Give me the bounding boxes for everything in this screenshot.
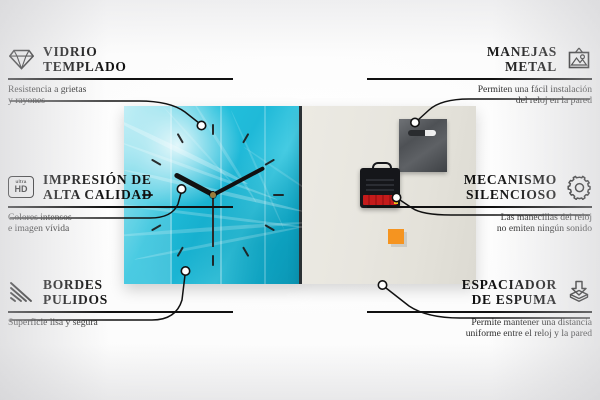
feature-rule	[367, 78, 592, 80]
feature-desc-line2: y rayones	[8, 95, 233, 107]
infographic-canvas: VIDRIO TEMPLADO Resistencia a grietas y …	[0, 0, 600, 400]
feature-bordes-pulidos[interactable]: BORDES PULIDOS Superficie lisa y segura	[8, 277, 233, 328]
feature-title-line1: IMPRESIÓN DE	[43, 172, 152, 187]
feature-title-line2: TEMPLADO	[43, 59, 127, 74]
feature-rule	[8, 78, 233, 80]
feature-rule	[8, 206, 233, 208]
feature-desc-line2: del reloj en la pared	[367, 95, 592, 107]
feature-title-line1: MANEJAS	[487, 44, 557, 59]
feature-rule	[8, 311, 233, 313]
feature-impresion-alta-calidad[interactable]: ultra HD IMPRESIÓN DE ALTA CALIDAD Color…	[8, 172, 233, 235]
feature-title-line2: METAL	[487, 59, 557, 74]
ultra-hd-icon: ultra HD	[8, 174, 34, 200]
feature-desc-line1: Superficie lisa y segura	[8, 317, 233, 329]
feature-desc-line1: Permite mantener una distancia	[367, 317, 592, 329]
polished-edges-icon	[8, 279, 34, 305]
feature-title-line1: ESPACIADOR	[462, 277, 557, 292]
picture-frame-hanger-icon	[566, 46, 592, 72]
feature-title-line2: PULIDOS	[43, 292, 108, 307]
feature-title-line2: SILENCIOSO	[464, 187, 557, 202]
gear-icon	[566, 174, 592, 200]
feature-manejas-metal[interactable]: MANEJAS METAL Permiten una fácil instala…	[367, 44, 592, 107]
foam-spacer-icon	[566, 279, 592, 305]
feature-rule	[367, 206, 592, 208]
feature-desc-line2: uniforme entre el reloj y la pared	[367, 328, 592, 340]
feature-desc-line1: Colores intensos	[8, 212, 233, 224]
feature-title-line2: DE ESPUMA	[462, 292, 557, 307]
feature-desc-line1: Las manecillas del reloj	[367, 212, 592, 224]
feature-mecanismo-silencioso[interactable]: MECANISMO SILENCIOSO Las manecillas del …	[367, 172, 592, 235]
feature-title-line1: BORDES	[43, 277, 108, 292]
feature-vidrio-templado[interactable]: VIDRIO TEMPLADO Resistencia a grietas y …	[8, 44, 233, 107]
feature-title-line1: VIDRIO	[43, 44, 127, 59]
diamond-icon	[8, 46, 34, 72]
feature-desc-line2: no emiten ningún sonido	[367, 223, 592, 235]
feature-desc-line2: e imagen vívida	[8, 223, 233, 235]
feature-desc-line1: Permiten una fácil instalación	[367, 84, 592, 96]
feature-desc-line1: Resistencia a grietas	[8, 84, 233, 96]
feature-espaciador-de-espuma[interactable]: ESPACIADOR DE ESPUMA Permite mantener un…	[367, 277, 592, 340]
feature-title-line2: ALTA CALIDAD	[43, 187, 152, 202]
ultra-hd-icon-bottom-text: HD	[15, 185, 28, 194]
metal-hanger-part	[399, 119, 447, 172]
feature-rule	[367, 311, 592, 313]
feature-title-line1: MECANISMO	[464, 172, 557, 187]
